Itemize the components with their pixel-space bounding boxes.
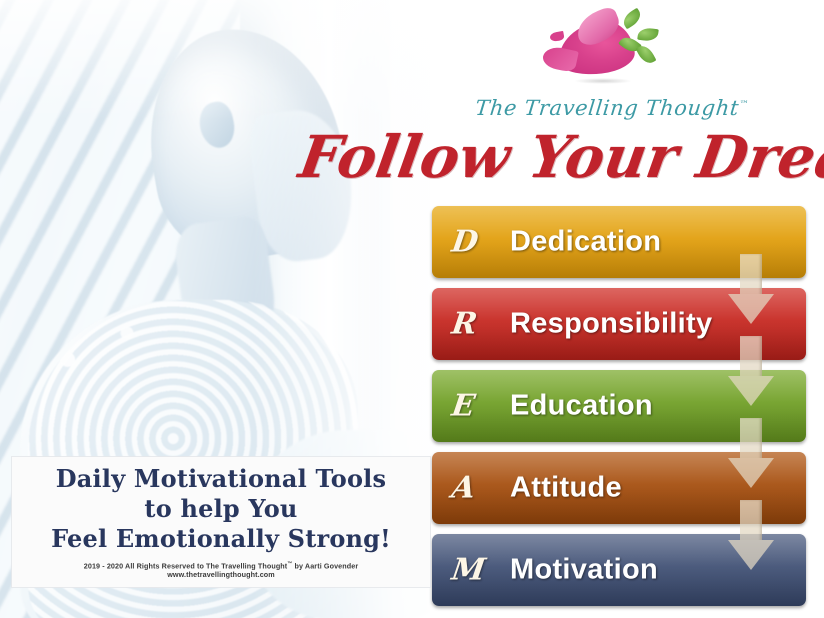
card-line-2: to help You: [12, 494, 430, 524]
copyright-notice: 2019 - 2020 All Rights Reserved to The T…: [12, 560, 430, 579]
bar-initial: D: [450, 225, 481, 260]
leaf-icon: [620, 8, 644, 30]
arrow-head: [728, 458, 774, 488]
leaf-icon: [637, 27, 659, 43]
poster-canvas: The Travelling Thought™ Follow Your Drea…: [0, 0, 824, 618]
arrow-shaft: [740, 418, 762, 460]
down-arrow-icon: [728, 500, 774, 570]
bird-beak-icon: [549, 31, 564, 42]
website-url[interactable]: www.thetravellingthought.com: [12, 570, 430, 579]
dream-acronym-list: D Dedication R Responsibility E Educatio…: [432, 206, 810, 612]
bar-label: Responsibility: [510, 308, 712, 341]
brand-tagline-text: The Travelling Thought: [474, 96, 740, 120]
bar-label: Education: [510, 390, 653, 423]
bar-label: Attitude: [510, 472, 622, 505]
leaf-icon: [636, 43, 657, 67]
trademark-symbol: ™: [739, 100, 750, 110]
bar-initial: R: [450, 307, 480, 342]
bar-initial: M: [450, 553, 488, 588]
down-arrow-icon: [728, 254, 774, 324]
copyright-text: 2019 - 2020 All Rights Reserved to The T…: [84, 561, 288, 570]
page-title: Follow Your Dream: [295, 128, 824, 186]
bar-initial: E: [450, 389, 478, 424]
bar-initial: A: [450, 471, 478, 506]
arrow-shaft: [740, 254, 762, 296]
arrow-head: [728, 540, 774, 570]
bar-label: Dedication: [510, 226, 661, 259]
copyright-author: by Aarti Govender: [292, 561, 358, 570]
arrow-shaft: [740, 500, 762, 542]
dove-bird-with-leaves-icon: [548, 4, 668, 90]
bar-label: Motivation: [510, 554, 658, 587]
card-line-1: Daily Motivational Tools: [12, 457, 430, 494]
message-card: Daily Motivational Tools to help You Fee…: [12, 457, 430, 587]
arrow-shaft: [740, 336, 762, 378]
arrow-head: [728, 376, 774, 406]
down-arrow-icon: [728, 418, 774, 488]
copyright-line: 2019 - 2020 All Rights Reserved to The T…: [12, 560, 430, 570]
logo-shadow: [574, 78, 632, 84]
down-arrow-icon: [728, 336, 774, 406]
card-line-3: Feel Emotionally Strong!: [12, 524, 430, 554]
brand-tagline: The Travelling Thought™: [461, 96, 764, 120]
arrow-head: [728, 294, 774, 324]
